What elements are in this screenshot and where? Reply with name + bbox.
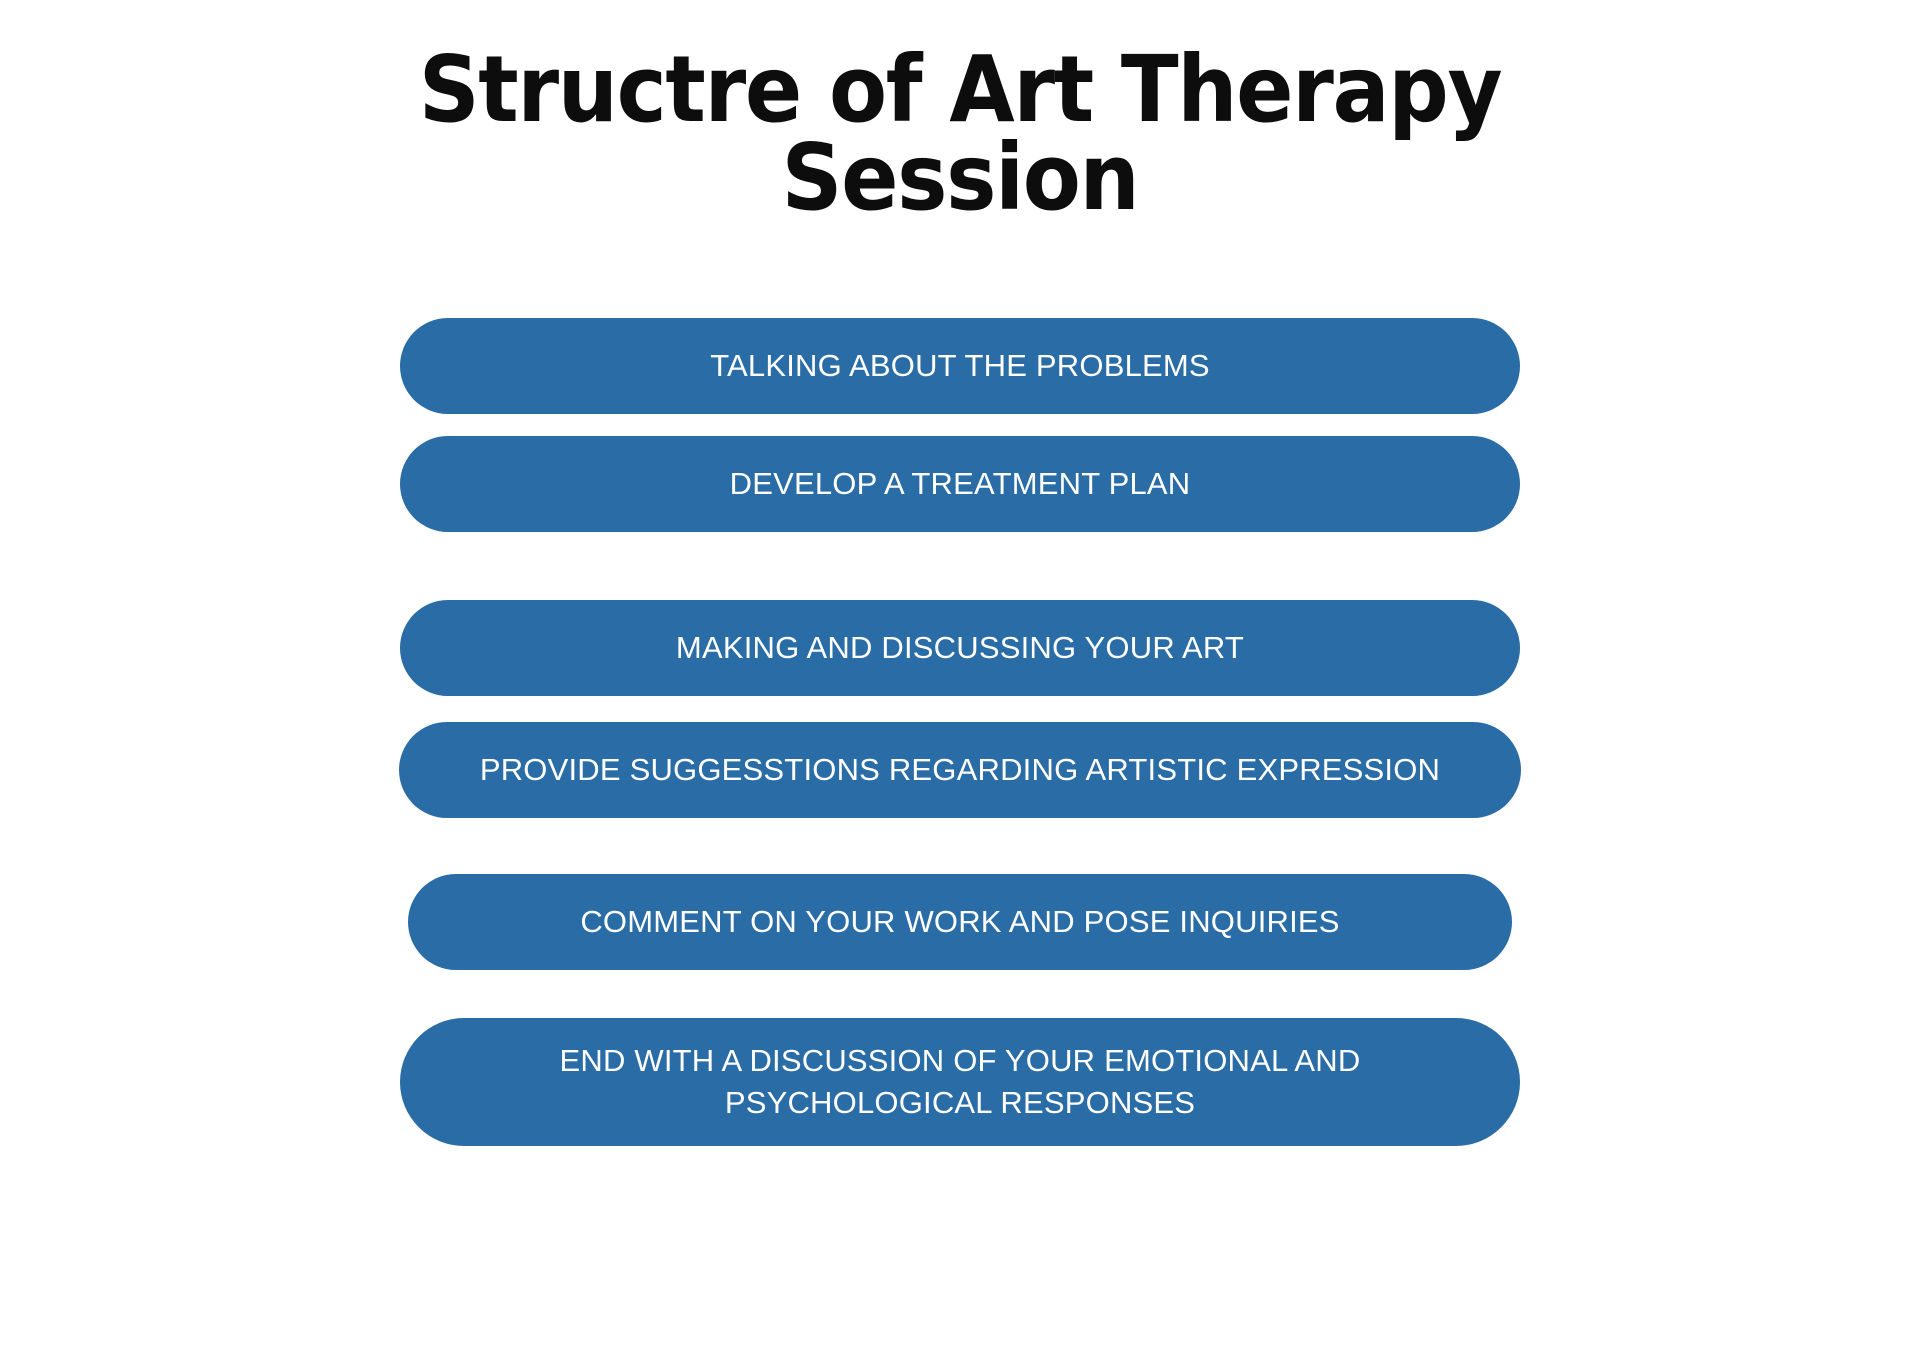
session-step-4-label: PROVIDE SUGGESSTIONS REGARDING ARTISTIC … xyxy=(480,750,1440,790)
session-step-5-label: COMMENT ON YOUR WORK AND POSE INQUIRIES xyxy=(580,902,1339,942)
session-step-3[interactable]: MAKING AND DISCUSSING YOUR ART xyxy=(400,600,1520,696)
session-step-6-label: END WITH A DISCUSSION OF YOUR EMOTIONAL … xyxy=(560,1040,1361,1123)
session-step-1-label: TALKING ABOUT THE PROBLEMS xyxy=(710,346,1210,386)
session-step-5[interactable]: COMMENT ON YOUR WORK AND POSE INQUIRIES xyxy=(408,874,1512,970)
session-step-2-label: DEVELOP A TREATMENT PLAN xyxy=(730,464,1191,504)
infographic-poster: Structre of Art Therapy Session TALKING … xyxy=(0,0,1920,1363)
session-step-4[interactable]: PROVIDE SUGGESSTIONS REGARDING ARTISTIC … xyxy=(399,722,1521,818)
page-title-line-2: Session xyxy=(77,134,1843,222)
page-title-line-1: Structre of Art Therapy xyxy=(77,46,1843,134)
session-step-1[interactable]: TALKING ABOUT THE PROBLEMS xyxy=(400,318,1520,414)
session-step-6[interactable]: END WITH A DISCUSSION OF YOUR EMOTIONAL … xyxy=(400,1018,1520,1146)
session-step-list: TALKING ABOUT THE PROBLEMS DEVELOP A TRE… xyxy=(0,318,1920,1146)
page-title: Structre of Art Therapy Session xyxy=(0,46,1920,223)
session-step-3-label: MAKING AND DISCUSSING YOUR ART xyxy=(676,628,1244,668)
session-step-2[interactable]: DEVELOP A TREATMENT PLAN xyxy=(400,436,1520,532)
